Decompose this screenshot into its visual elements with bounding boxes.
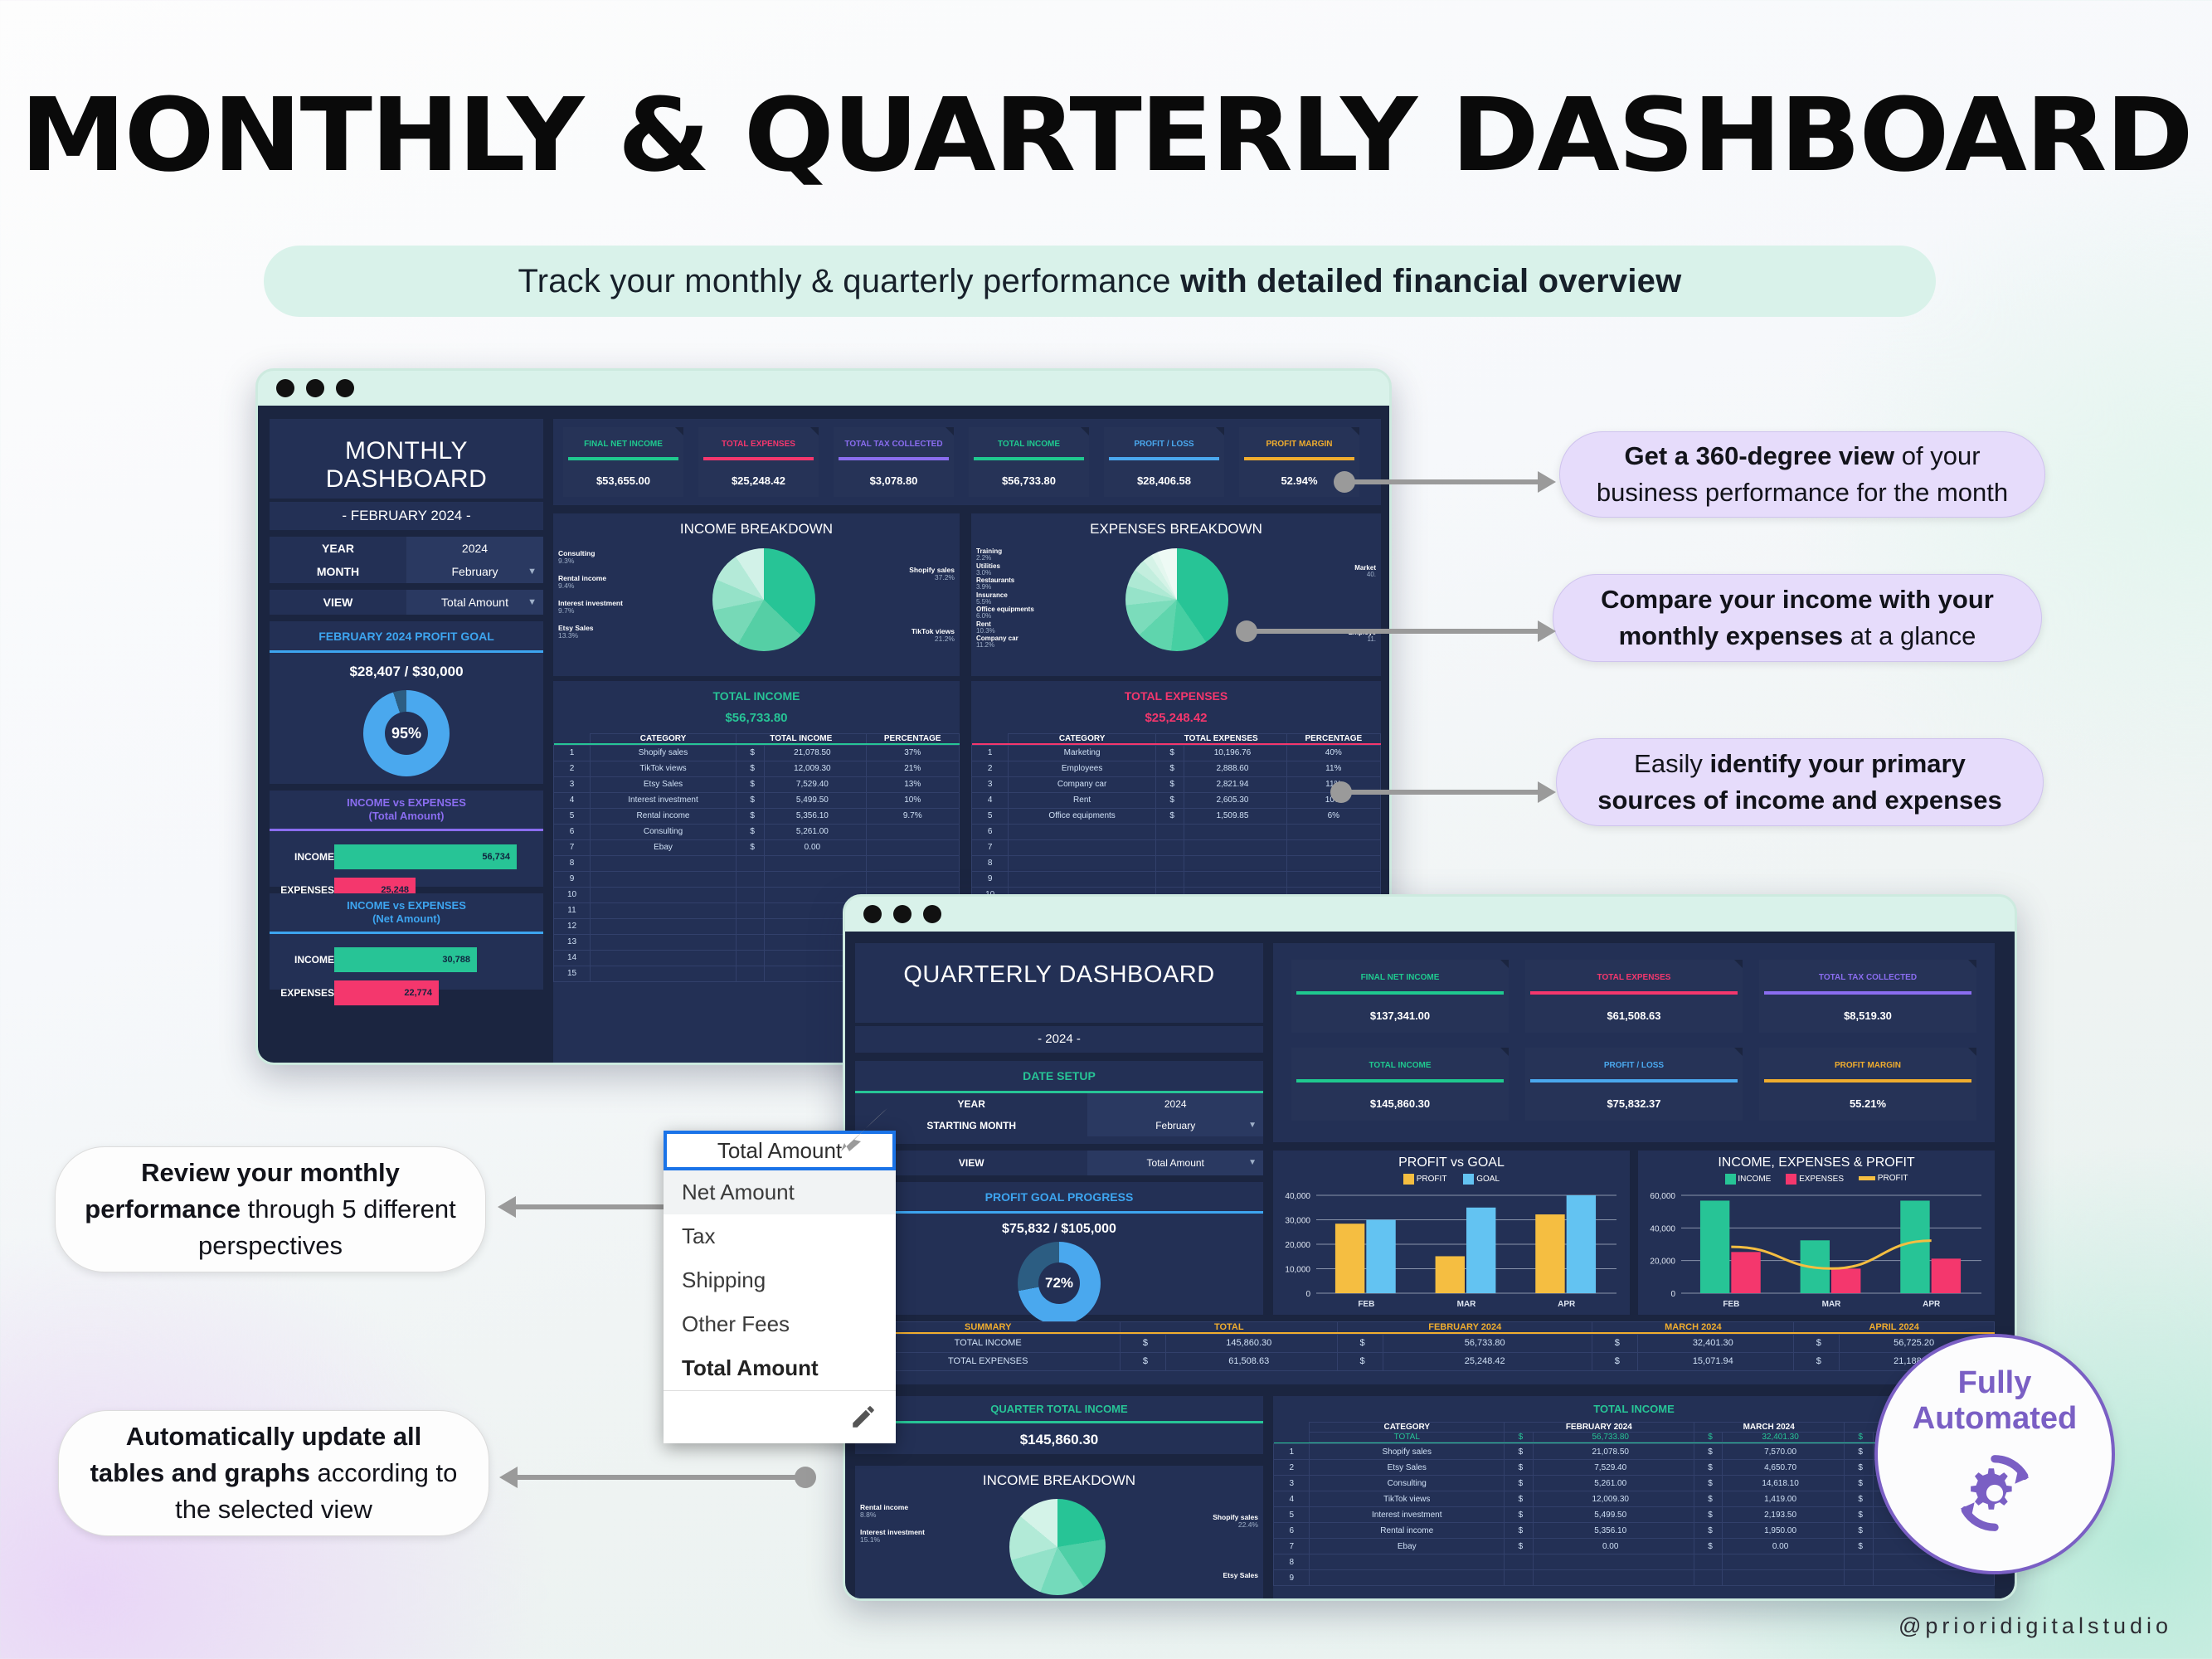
- q-profit-goal-percent: 72%: [1038, 1262, 1080, 1304]
- footer-handle: @prioridigitalstudio: [1898, 1613, 2172, 1639]
- income-vs-expenses-total-panel: INCOME vs EXPENSES (Total Amount) INCOME…: [270, 791, 543, 887]
- kpi-value: $28,406.58: [1104, 460, 1224, 487]
- profit-vs-goal-svg: 010,00020,00030,00040,000FEBMARAPR: [1273, 1189, 1630, 1313]
- svg-text:APR: APR: [1923, 1300, 1941, 1309]
- table-row[interactable]: 6Consulting$5,261.00: [554, 824, 960, 839]
- kpi-label: PROFIT MARGIN: [1239, 427, 1359, 449]
- table-row[interactable]: 5Interest investment$5,499.50$2,193.50$1…: [1274, 1507, 1995, 1523]
- table-row[interactable]: 1Shopify sales$21,078.5037%: [554, 745, 960, 761]
- quarterly-period-panel: - 2024 -: [855, 1026, 1263, 1053]
- subtitle-banner: Track your monthly & quarterly performan…: [264, 246, 1936, 317]
- kpi-label: TOTAL EXPENSES: [698, 427, 819, 449]
- q-income-pie-title: INCOME BREAKDOWN: [855, 1466, 1263, 1489]
- svg-text:0: 0: [1670, 1290, 1675, 1299]
- pie-leader-label: Rental income8.8%: [860, 1504, 908, 1519]
- kpi-card: TOTAL TAX COLLECTED $8,519.30: [1759, 960, 1976, 1033]
- ive-net-expenses-bar: 22,774: [334, 980, 439, 1005]
- dropdown-option[interactable]: Shipping: [664, 1258, 896, 1302]
- monthly-view-panel: VIEW Total Amount ▼: [270, 590, 543, 615]
- table-row[interactable]: 5Rental income$5,356.109.7%: [554, 808, 960, 824]
- table-row[interactable]: 9: [972, 871, 1381, 887]
- callout-identify-sources: Easily identify your primary sources of …: [1556, 738, 2044, 826]
- callout-review-performance: Review your monthly performance through …: [55, 1146, 486, 1272]
- kpi-corner-fold: [946, 427, 954, 435]
- quarterly-income-pie-panel: INCOME BREAKDOWN Rental income8.8%Intere…: [855, 1466, 1263, 1601]
- kpi-corner-fold: [1351, 427, 1359, 435]
- dropdown-option[interactable]: Tax: [664, 1214, 896, 1258]
- svg-text:10,000: 10,000: [1285, 1266, 1310, 1275]
- fully-automated-badge: Fully Automated: [1874, 1334, 2115, 1574]
- ive-net-expenses-label: EXPENSES: [270, 987, 334, 999]
- svg-text:APR: APR: [1558, 1300, 1576, 1309]
- badge-line-2: Automated: [1913, 1401, 2077, 1437]
- kpi-card: PROFIT / LOSS $75,832.37: [1525, 1048, 1743, 1121]
- window-minimize-dot[interactable]: [306, 379, 324, 397]
- kpi-card: FINAL NET INCOME $53,655.00: [563, 427, 683, 497]
- table-row[interactable]: 7Ebay$0.00: [554, 839, 960, 855]
- dropdown-edit-row[interactable]: [664, 1390, 896, 1443]
- kpi-label: TOTAL INCOME: [1291, 1048, 1509, 1070]
- monthly-income-pie-panel: INCOME BREAKDOWN Consulting9.3%Rental in…: [553, 513, 960, 676]
- table-row[interactable]: TOTAL EXPENSES$61,508.63$25,248.42$15,07…: [856, 1352, 1995, 1370]
- table-row[interactable]: 8: [972, 855, 1381, 871]
- arrow-to-callout-5: [516, 1475, 808, 1480]
- table-row[interactable]: 1Marketing$10,196.7640%: [972, 745, 1381, 761]
- kpi-label: TOTAL EXPENSES: [1525, 960, 1743, 982]
- pie-leader-label: Consulting9.3%: [558, 550, 595, 565]
- ive-total-subtitle: (Total Amount): [369, 810, 445, 822]
- window-minimize-dot[interactable]: [893, 905, 912, 923]
- q-view-value: Total Amount: [1147, 1157, 1204, 1169]
- view-label: VIEW: [270, 590, 406, 615]
- monthly-window-titlebar: [258, 371, 1389, 406]
- q-profit-goal-donut: 72%: [1018, 1242, 1101, 1325]
- kpi-value: $137,341.00: [1291, 995, 1509, 1022]
- kpi-label: TOTAL TAX COLLECTED: [1759, 960, 1976, 982]
- chevron-down-icon[interactable]: ▼: [1248, 1121, 1257, 1130]
- kpi-card: TOTAL EXPENSES $25,248.42: [698, 427, 819, 497]
- pie-leader-label: Shopify sales37.2%: [909, 567, 955, 581]
- table-row[interactable]: 9: [554, 871, 960, 887]
- q-starting-month-value: February: [1155, 1120, 1195, 1131]
- month-label: MONTH: [270, 560, 406, 583]
- table-row[interactable]: 5Office equipments$1,509.856%: [972, 808, 1381, 824]
- pie-leader-label: TikTok views21.2%: [912, 628, 955, 643]
- expenses-table-total: $25,248.42: [971, 703, 1381, 725]
- ive-net-income-value: 30,788: [442, 955, 470, 965]
- svg-text:0: 0: [1305, 1290, 1310, 1299]
- arrow-to-callout-1: [1342, 479, 1539, 484]
- pie-leader-label: Insurance5.5%: [976, 592, 1008, 606]
- pie-leader-label: Interest investment15.1%: [860, 1529, 925, 1544]
- kpi-card: TOTAL EXPENSES $61,508.63: [1525, 960, 1743, 1033]
- kpi-card: PROFIT / LOSS $28,406.58: [1104, 427, 1224, 497]
- kpi-value: $8,519.30: [1759, 995, 1976, 1022]
- kpi-card: TOTAL INCOME $56,733.80: [969, 427, 1089, 497]
- profit-vs-goal-legend: PROFIT GOAL: [1273, 1174, 1630, 1185]
- ive-net-income-bar: 30,788: [334, 947, 477, 972]
- q-year-value[interactable]: 2024: [1087, 1093, 1263, 1115]
- svg-text:40,000: 40,000: [1285, 1192, 1310, 1201]
- quarterly-kpi-panel: FINAL NET INCOME $137,341.00 TOTAL EXPEN…: [1273, 943, 1995, 1142]
- quarterly-dashboard-window: QUARTERLY DASHBOARD - 2024 - DATE SETUP …: [843, 894, 2017, 1601]
- view-value: Total Amount: [441, 596, 508, 609]
- arrow-to-callout-2: [1244, 629, 1539, 634]
- pie-leader-label: Etsy Sales13.3%: [558, 625, 594, 640]
- pie-leader-label: Interest investment9.7%: [558, 600, 623, 615]
- arrow-to-callout-3: [1339, 790, 1539, 795]
- ive-net-title: INCOME vs EXPENSES: [347, 899, 466, 912]
- chevron-down-icon[interactable]: ▼: [527, 567, 537, 577]
- kpi-label: TOTAL INCOME: [969, 427, 1089, 449]
- table-row[interactable]: 8: [554, 855, 960, 871]
- ive-net-income-label: INCOME: [270, 954, 334, 966]
- kpi-corner-fold: [675, 427, 683, 435]
- svg-text:20,000: 20,000: [1650, 1258, 1675, 1267]
- pie-leader-label: Office equipments6.0%: [976, 606, 1034, 620]
- kpi-corner-fold: [1968, 960, 1976, 968]
- q-profit-goal-title: PROFIT GOAL PROGRESS: [855, 1182, 1263, 1204]
- kpi-corner-fold: [1734, 1048, 1743, 1056]
- quarterly-kpi-grid: FINAL NET INCOME $137,341.00 TOTAL EXPEN…: [1273, 943, 1995, 1137]
- callout-compare-income: Compare your income with your monthly ex…: [1553, 574, 2042, 662]
- dropdown-option[interactable]: Total Amount: [664, 1346, 896, 1390]
- ive-total-income-label: INCOME: [270, 851, 334, 863]
- kpi-label: FINAL NET INCOME: [563, 427, 683, 449]
- page-title: MONTHLY & QUARTERLY DASHBOARD: [0, 76, 2212, 194]
- pie-leader-label: Utilities3.0%: [976, 563, 1000, 577]
- kpi-label: TOTAL TAX COLLECTED: [834, 427, 954, 449]
- table-row[interactable]: 7: [972, 839, 1381, 855]
- window-maximize-dot[interactable]: [923, 905, 941, 923]
- income-expenses-profit-chart-panel: INCOME, EXPENSES & PROFIT INCOME EXPENSE…: [1638, 1151, 1995, 1315]
- monthly-period: - FEBRUARY 2024 -: [270, 502, 543, 524]
- kpi-card: FINAL NET INCOME $137,341.00: [1291, 960, 1509, 1033]
- view-dropdown-menu[interactable]: Total Amount Net AmountTaxShippingOther …: [664, 1131, 896, 1443]
- dropdown-option[interactable]: Other Fees: [664, 1302, 896, 1346]
- ive-net-subtitle: (Net Amount): [372, 912, 440, 925]
- kpi-value: $3,078.80: [834, 460, 954, 487]
- income-table-title: TOTAL INCOME: [553, 681, 960, 703]
- q-profit-goal-amounts: $75,832 / $105,000: [855, 1214, 1263, 1237]
- table-row[interactable]: 7Ebay$0.00$0.00$0.00: [1274, 1539, 1995, 1554]
- table-row[interactable]: 3Company car$2,821.9411%: [972, 776, 1381, 792]
- table-row[interactable]: 3Etsy Sales$7,529.4013%: [554, 776, 960, 792]
- monthly-title: MONTHLY DASHBOARD: [270, 419, 543, 494]
- badge-line-1: Fully: [1958, 1365, 2032, 1401]
- table-row[interactable]: 8: [1274, 1554, 1995, 1570]
- view-select[interactable]: Total Amount ▼: [406, 590, 543, 615]
- expenses-pie-title: EXPENSES BREAKDOWN: [971, 513, 1381, 538]
- monthly-kpi-row: FINAL NET INCOME $53,655.00 TOTAL EXPENS…: [553, 419, 1381, 505]
- kpi-value: 55.21%: [1759, 1082, 1976, 1110]
- profit-goal-percent: 95%: [385, 712, 428, 755]
- kpi-label: PROFIT / LOSS: [1104, 427, 1224, 449]
- monthly-period-panel: - FEBRUARY 2024 -: [270, 502, 543, 530]
- month-value: February: [451, 565, 498, 578]
- gear-refresh-icon: [1945, 1443, 2044, 1543]
- quarterly-profit-goal-panel: PROFIT GOAL PROGRESS $75,832 / $105,000 …: [855, 1182, 1263, 1315]
- ive-total-title: INCOME vs EXPENSES: [347, 796, 466, 809]
- monthly-setup-panel: YEAR 2024 MONTH February ▼: [270, 537, 543, 583]
- kpi-value: $56,733.80: [969, 460, 1089, 487]
- iep-legend: INCOME EXPENSES PROFIT: [1638, 1174, 1995, 1185]
- monthly-kpi-panel: FINAL NET INCOME $53,655.00 TOTAL EXPENS…: [553, 419, 1381, 505]
- svg-text:30,000: 30,000: [1285, 1217, 1310, 1226]
- svg-text:MAR: MAR: [1822, 1300, 1842, 1309]
- legend-item: EXPENSES: [1786, 1174, 1844, 1185]
- quarterly-income-pie: [1009, 1499, 1106, 1595]
- chevron-down-icon[interactable]: ▼: [1248, 1158, 1257, 1167]
- profit-vs-goal-title: PROFIT vs GOAL: [1273, 1151, 1630, 1170]
- table-row[interactable]: 4Interest investment$5,499.5010%: [554, 792, 960, 808]
- table-row[interactable]: 2TikTok views$12,009.3021%: [554, 761, 960, 776]
- kpi-corner-fold: [1968, 1048, 1976, 1056]
- chevron-down-icon[interactable]: ▼: [527, 597, 537, 607]
- legend-item: INCOME: [1725, 1174, 1772, 1185]
- pie-leader-label: Rental income9.4%: [558, 575, 606, 590]
- quarterly-title: QUARTERLY DASHBOARD: [855, 943, 1263, 989]
- quarter-total-income-title: QUARTER TOTAL INCOME: [855, 1396, 1263, 1415]
- month-select[interactable]: February ▼: [406, 560, 543, 583]
- svg-text:MAR: MAR: [1457, 1300, 1477, 1309]
- quarterly-summary-panel: SUMMARYTOTALFEBRUARY 2024MARCH 2024APRIL…: [855, 1321, 1995, 1384]
- view-dropdown-options[interactable]: Net AmountTaxShippingOther FeesTotal Amo…: [664, 1170, 896, 1390]
- window-maximize-dot[interactable]: [336, 379, 354, 397]
- ive-total-income-bar: 56,734: [334, 844, 517, 869]
- window-close-dot[interactable]: [276, 379, 294, 397]
- pie-leader-label: Market40.: [1354, 565, 1376, 579]
- pie-leader-label: Etsy Sales: [1223, 1572, 1258, 1579]
- pie-leader-label: Restaurants3.9%: [976, 577, 1014, 591]
- svg-text:FEB: FEB: [1723, 1300, 1739, 1309]
- ive-total-income-value: 56,734: [482, 852, 510, 862]
- legend-item: PROFIT: [1403, 1174, 1446, 1185]
- quarterly-date-setup-panel: DATE SETUP YEAR 2024 STARTING MONTH Febr…: [855, 1061, 1263, 1144]
- iep-title: INCOME, EXPENSES & PROFIT: [1638, 1151, 1995, 1170]
- year-value[interactable]: 2024: [406, 537, 543, 560]
- monthly-income-pie: [712, 548, 815, 651]
- quarterly-period: - 2024 -: [855, 1026, 1263, 1046]
- kpi-label: PROFIT MARGIN: [1759, 1048, 1976, 1070]
- kpi-value: $145,860.30: [1291, 1082, 1509, 1110]
- table-row[interactable]: 6Rental income$5,356.10$1,950.00$5,559.5…: [1274, 1523, 1995, 1539]
- date-setup-title: DATE SETUP: [855, 1061, 1263, 1082]
- legend-item: GOAL: [1463, 1174, 1500, 1185]
- q-view-select[interactable]: Total Amount ▼: [1087, 1151, 1263, 1175]
- pie-leader-label: Training2.2%: [976, 548, 1002, 562]
- pie-leader-label: Shopify sales22.4%: [1213, 1514, 1258, 1529]
- quarter-total-income-panel: QUARTER TOTAL INCOME $145,860.30: [855, 1396, 1263, 1454]
- monthly-expenses-pie: [1125, 548, 1228, 651]
- profit-goal-title: FEBRUARY 2024 PROFIT GOAL: [270, 621, 543, 643]
- kpi-corner-fold: [1500, 1048, 1509, 1056]
- kpi-value: $53,655.00: [563, 460, 683, 487]
- kpi-value: $75,832.37: [1525, 1082, 1743, 1110]
- kpi-corner-fold: [1081, 427, 1089, 435]
- iep-svg: 020,00040,00060,000FEBMARAPR: [1638, 1189, 1995, 1313]
- kpi-card: PROFIT MARGIN 55.21%: [1759, 1048, 1976, 1121]
- kpi-card: TOTAL INCOME $145,860.30: [1291, 1048, 1509, 1121]
- income-vs-expenses-net-panel: INCOME vs EXPENSES (Net Amount) INCOME 3…: [270, 893, 543, 990]
- window-close-dot[interactable]: [863, 905, 882, 923]
- quarter-total-income-value: $145,860.30: [855, 1423, 1263, 1448]
- expenses-table-title: TOTAL EXPENSES: [971, 681, 1381, 703]
- kpi-card: TOTAL TAX COLLECTED $3,078.80: [834, 427, 954, 497]
- quarterly-dashboard-body: QUARTERLY DASHBOARD - 2024 - DATE SETUP …: [845, 932, 2015, 1598]
- svg-text:FEB: FEB: [1358, 1300, 1374, 1309]
- poster-canvas: MONTHLY & QUARTERLY DASHBOARD Track your…: [0, 0, 2212, 1659]
- view-dropdown-value: Total Amount: [717, 1138, 842, 1164]
- kpi-value: $61,508.63: [1525, 995, 1743, 1022]
- subtitle-bold: with detailed financial overview: [1180, 263, 1681, 299]
- quarterly-summary-table[interactable]: SUMMARYTOTALFEBRUARY 2024MARCH 2024APRIL…: [855, 1321, 1995, 1371]
- quarterly-view-panel: VIEW Total Amount ▼: [855, 1151, 1263, 1175]
- kpi-label: FINAL NET INCOME: [1291, 960, 1509, 982]
- dropdown-option[interactable]: Net Amount: [664, 1170, 896, 1214]
- table-row[interactable]: 6: [972, 824, 1381, 839]
- monthly-expenses-pie-panel: EXPENSES BREAKDOWN Training2.2%Utilities…: [971, 513, 1381, 676]
- monthly-profit-goal-panel: FEBRUARY 2024 PROFIT GOAL $28,407 / $30,…: [270, 621, 543, 784]
- kpi-corner-fold: [1734, 960, 1743, 968]
- quarterly-window-titlebar: [845, 897, 2015, 932]
- kpi-corner-fold: [810, 427, 819, 435]
- quarterly-title-panel: QUARTERLY DASHBOARD: [855, 943, 1263, 1023]
- callout-auto-update: Automatically update all tables and grap…: [58, 1410, 489, 1536]
- profit-goal-donut: 95%: [363, 690, 450, 776]
- profit-goal-amounts: $28,407 / $30,000: [270, 653, 543, 680]
- ive-net-expenses-value: 22,774: [404, 988, 432, 998]
- svg-text:20,000: 20,000: [1285, 1241, 1310, 1250]
- cursor-arrow-icon: [836, 1103, 894, 1161]
- table-row[interactable]: 2Employees$2,888.6011%: [972, 761, 1381, 776]
- pie-leader-label: Rent10.3%: [976, 621, 995, 635]
- profit-vs-goal-chart-panel: PROFIT vs GOAL PROFIT GOAL 010,00020,000…: [1273, 1151, 1630, 1315]
- q-starting-month-select[interactable]: February ▼: [1087, 1115, 1263, 1136]
- subtitle-normal: Track your monthly & quarterly performan…: [518, 263, 1181, 299]
- kpi-corner-fold: [1500, 960, 1509, 968]
- year-label: YEAR: [270, 537, 406, 560]
- kpi-corner-fold: [1216, 427, 1224, 435]
- callout-360-view: Get a 360-degree view of your business p…: [1559, 431, 2045, 518]
- kpi-value: $25,248.42: [698, 460, 819, 487]
- pencil-icon[interactable]: [849, 1403, 878, 1431]
- income-table-total: $56,733.80: [553, 703, 960, 725]
- table-row[interactable]: 9: [1274, 1570, 1995, 1586]
- svg-text:40,000: 40,000: [1650, 1224, 1675, 1233]
- income-pie-title: INCOME BREAKDOWN: [553, 513, 960, 538]
- svg-text:60,000: 60,000: [1650, 1192, 1675, 1201]
- table-row[interactable]: TOTAL INCOME$145,860.30$56,733.80$32,401…: [856, 1334, 1995, 1352]
- legend-item: PROFIT: [1859, 1174, 1908, 1185]
- kpi-label: PROFIT / LOSS: [1525, 1048, 1743, 1070]
- monthly-title-panel: MONTHLY DASHBOARD: [270, 419, 543, 499]
- pie-leader-label: Company car11.2%: [976, 635, 1018, 649]
- table-row[interactable]: 4Rent$2,605.3010%: [972, 792, 1381, 808]
